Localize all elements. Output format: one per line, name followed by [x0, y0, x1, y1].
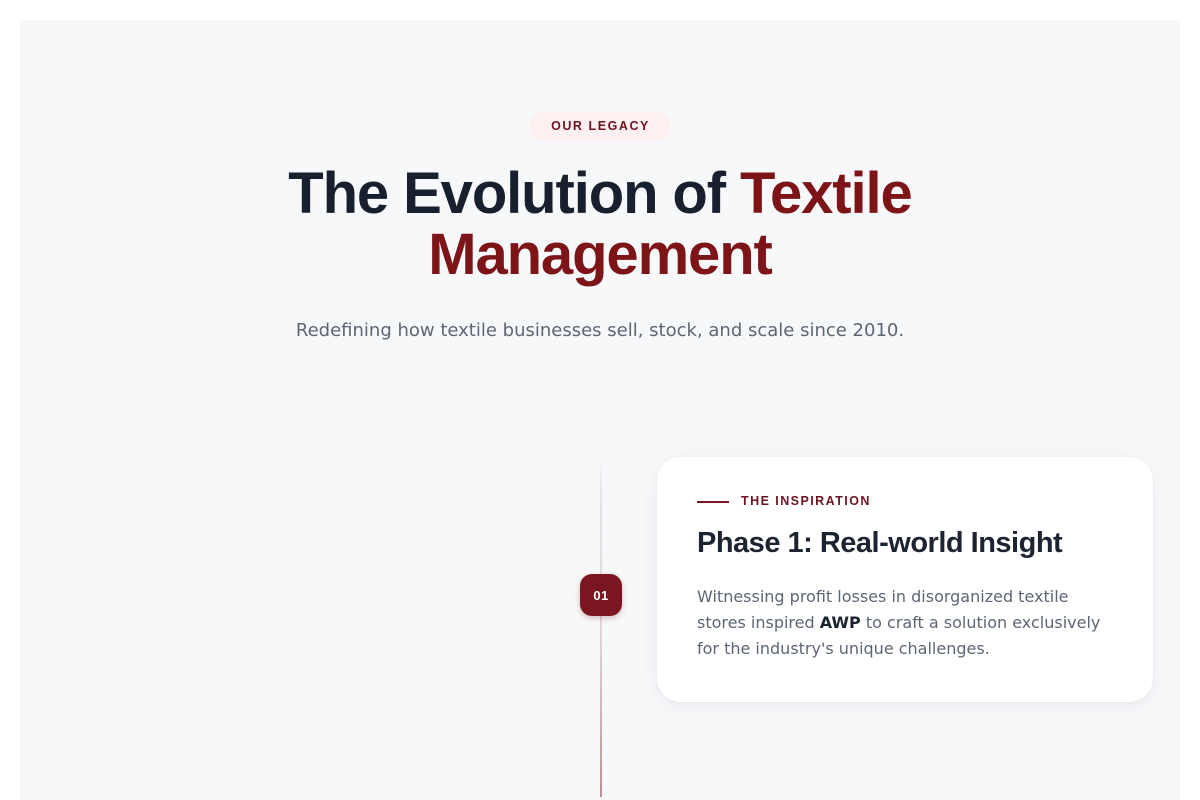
- card-body-brand: AWP: [820, 613, 861, 632]
- hero-section: OUR LEGACY The Evolution of Textile Mana…: [20, 20, 1180, 344]
- horizontal-rule-icon: [697, 501, 729, 503]
- page-title: The Evolution of Textile Management: [190, 163, 1010, 286]
- timeline-vertical-line: [600, 457, 602, 797]
- eyebrow-badge: OUR LEGACY: [529, 112, 671, 141]
- timeline-node-marker-01: 01: [580, 574, 622, 616]
- card-kicker: THE INSPIRATION: [697, 495, 1113, 508]
- card-kicker-label: THE INSPIRATION: [741, 495, 871, 508]
- timeline-card-01: THE INSPIRATION Phase 1: Real-world Insi…: [657, 457, 1153, 701]
- page-container: OUR LEGACY The Evolution of Textile Mana…: [20, 20, 1180, 800]
- card-title: Phase 1: Real-world Insight: [697, 526, 1113, 562]
- card-body: Witnessing profit losses in disorganized…: [697, 584, 1113, 662]
- timeline-node-number: 01: [593, 588, 608, 603]
- hero-subtitle: Redefining how textile businesses sell, …: [20, 317, 1180, 344]
- page-title-primary: The Evolution of: [288, 161, 740, 226]
- timeline-section: 01 THE INSPIRATION Phase 1: Real-world I…: [20, 457, 1180, 797]
